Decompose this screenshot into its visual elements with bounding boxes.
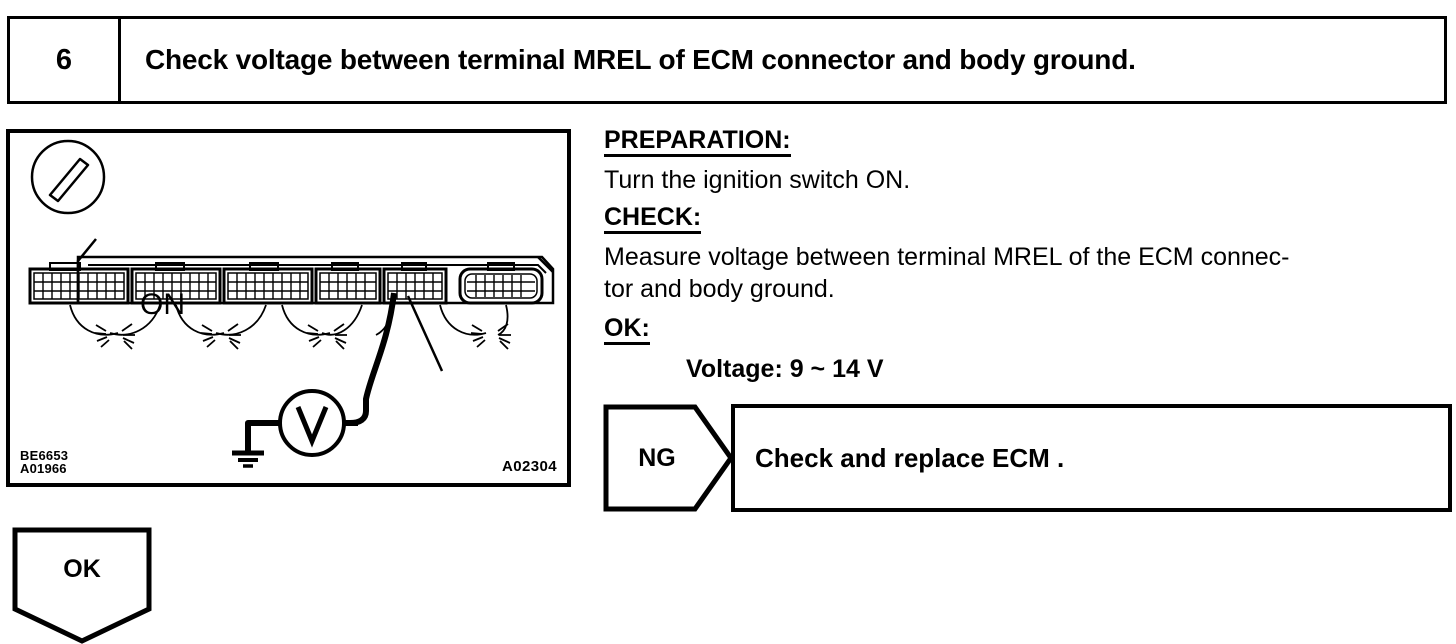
step-number-cell: 6 xyxy=(10,19,121,101)
instructions-column: PREPARATION: Turn the ignition switch ON… xyxy=(604,128,1450,384)
connector-block-6 xyxy=(460,263,542,303)
wire-harness-bundles xyxy=(70,305,511,349)
step-number: 6 xyxy=(56,46,72,75)
illustration-panel: ON MREL (+) BE6653 A01966 A02304 xyxy=(6,129,571,487)
ecm-connector-assembly xyxy=(30,239,553,303)
ng-branch: NG Check and replace ECM . xyxy=(603,404,1452,512)
preparation-heading: PREPARATION: xyxy=(604,128,791,157)
voltmeter-positive-lead xyxy=(350,293,394,423)
figure-code: A02304 xyxy=(502,458,557,475)
preparation-heading-row: PREPARATION: xyxy=(604,128,1450,157)
mrel-leader-line xyxy=(408,296,442,371)
ignition-state-label: ON xyxy=(140,288,185,322)
reference-code-bottom: A01966 xyxy=(20,462,68,475)
ground-lead xyxy=(248,423,280,451)
ng-arrow-shape xyxy=(603,404,735,512)
illustration-reference-codes: BE6653 A01966 xyxy=(20,449,68,475)
step-title-cell: Check voltage between terminal MREL of E… xyxy=(121,19,1444,101)
preparation-body: Turn the ignition switch ON. xyxy=(604,164,1450,196)
connector-block-4 xyxy=(316,263,380,303)
body-ground-symbol xyxy=(232,453,264,466)
ng-result-box: Check and replace ECM . xyxy=(731,404,1452,512)
connector-block-1 xyxy=(30,263,128,303)
check-heading: CHECK: xyxy=(604,205,701,234)
ok-heading: OK: xyxy=(604,316,650,345)
ok-arrow-shape xyxy=(12,527,152,644)
voltage-specification: Voltage: 9 ~ 14 V xyxy=(686,355,1450,384)
ok-heading-row: OK: xyxy=(604,316,1450,345)
check-heading-row: CHECK: xyxy=(604,205,1450,234)
mrel-terminal-label: MREL (+) xyxy=(416,485,527,487)
voltmeter-symbol xyxy=(280,391,358,455)
ignition-key-icon xyxy=(32,141,104,213)
connector-block-3 xyxy=(224,263,312,303)
ok-branch: OK xyxy=(12,527,152,644)
step-header-box: 6 Check voltage between terminal MREL of… xyxy=(7,16,1447,104)
check-body-line-1: Measure voltage between terminal MREL of… xyxy=(604,241,1450,273)
step-title: Check voltage between terminal MREL of E… xyxy=(145,45,1136,76)
ecm-connector-diagram xyxy=(10,133,567,483)
check-body-line-2: tor and body ground. xyxy=(604,273,1450,305)
ng-result-text: Check and replace ECM . xyxy=(755,443,1064,474)
